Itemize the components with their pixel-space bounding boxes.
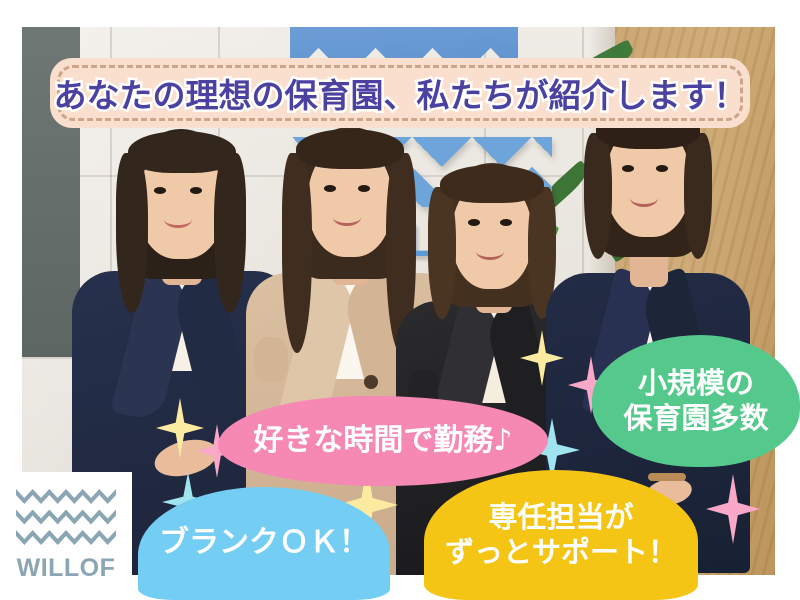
brand-logo-card: WILLOF [0, 472, 132, 600]
callout-line: ずっとサポート！ [445, 535, 677, 570]
brand-wordmark: WILLOF [17, 554, 116, 583]
callout-flexible-hours: 好きな時間で勤務♪ [218, 396, 548, 486]
callout-line: 好きな時間で勤務♪ [253, 423, 512, 460]
callout-line: ブランクＯＫ！ [159, 525, 369, 562]
headline-banner: あなたの理想の保育園、私たちが紹介します！ [50, 58, 750, 128]
callout-line: 小規模の [623, 366, 768, 401]
zigzag-row [16, 530, 116, 545]
callout-small-nursery: 小規模の 保育園多数 [592, 335, 800, 467]
brand-zigzag-icon [16, 489, 116, 545]
callout-line: 専任担当が [445, 500, 677, 535]
poster-canvas: WILLOF [0, 0, 800, 600]
headline-text: あなたの理想の保育園、私たちが紹介します！ [54, 69, 747, 117]
zigzag-row [16, 510, 116, 525]
callout-line: 保育園多数 [623, 401, 768, 436]
zigzag-row [16, 489, 116, 504]
